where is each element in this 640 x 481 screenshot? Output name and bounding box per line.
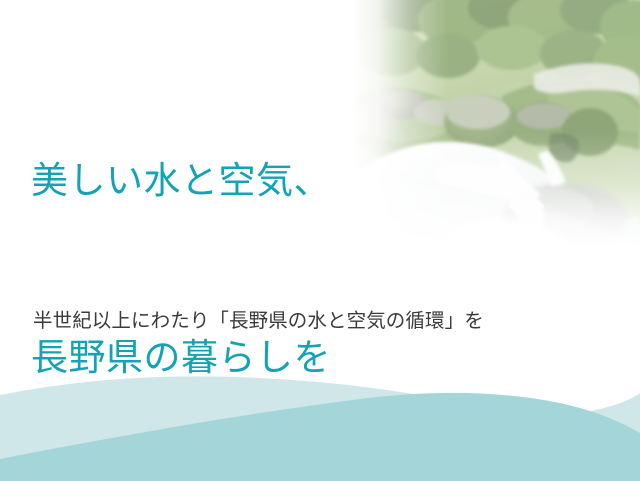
body-copy: 半世紀以上にわたり「長野県の水と空気の循環」を 支えてきた中信アスナ。 この街の…	[33, 249, 613, 481]
forest-stream-photo	[352, 0, 640, 248]
headline-line-1: 美しい水と空気、	[31, 151, 371, 210]
body-line-1: 半世紀以上にわたり「長野県の水と空気の循環」を	[33, 307, 613, 336]
body-line-2: 支えてきた中信アスナ。	[33, 394, 613, 423]
promo-banner: 美しい水と空気、 長野県の暮らしを 守り続けたい。 半世紀以上にわたり「長野県の…	[0, 0, 640, 481]
